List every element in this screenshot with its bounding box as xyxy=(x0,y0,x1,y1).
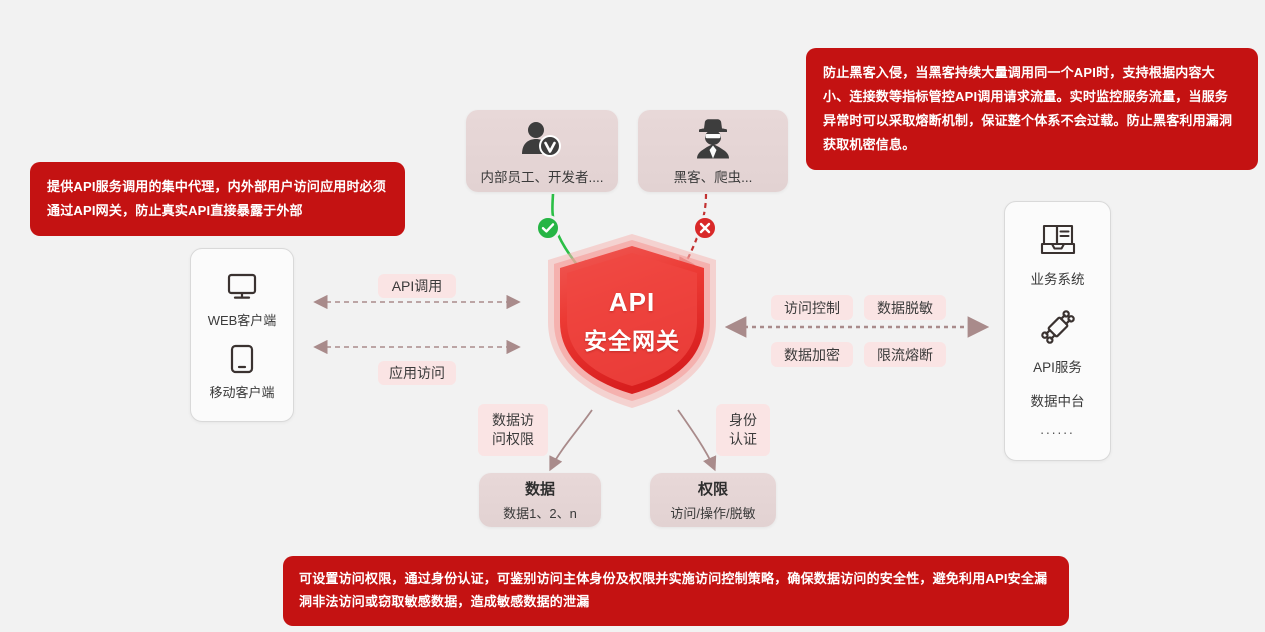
client-mobile[interactable]: 移动客户端 xyxy=(209,342,274,401)
gateway-to-data-arrow xyxy=(551,410,592,468)
actor-hacker[interactable]: 黑客、爬虫... xyxy=(638,110,788,192)
chip-api-call[interactable]: API调用 xyxy=(378,274,456,298)
shield-icon xyxy=(528,226,736,416)
api-security-gateway[interactable]: API 安全网关 xyxy=(528,226,736,416)
client-web[interactable]: WEB客户端 xyxy=(208,270,277,329)
chip-app-access[interactable]: 应用访问 xyxy=(378,361,456,385)
chip-data-encryption[interactable]: 数据加密 xyxy=(771,342,853,367)
archive-document-icon xyxy=(1040,218,1076,260)
backend-item-label-2: 数据中台 xyxy=(1031,390,1085,410)
box-data-title: 数据 xyxy=(525,478,555,499)
box-permission-subtitle: 访问/操作/脱敏 xyxy=(670,503,755,522)
chip-data-desensitization[interactable]: 数据脱敏 xyxy=(864,295,946,320)
hacker-spy-icon xyxy=(691,116,735,160)
gateway-to-permission-arrow xyxy=(678,410,714,468)
callout-right-protection: 防止黑客入侵，当黑客持续大量调用同一个API时，支持根据内容大小、连接数等指标管… xyxy=(806,48,1258,170)
verified-user-icon xyxy=(520,116,564,160)
callout-left-proxy: 提供API服务调用的集中代理，内外部用户访问应用时必须通过API网关，防止真实A… xyxy=(30,162,405,236)
backend-item-label-0: 业务系统 xyxy=(1031,268,1085,288)
box-data[interactable]: 数据 数据1、2、n xyxy=(479,473,601,527)
backend-panel: 业务系统 API服务 数据中台 ...... xyxy=(1004,201,1111,461)
mobile-device-icon xyxy=(230,342,254,376)
client-web-label: WEB客户端 xyxy=(208,310,277,329)
backend-item-label-1: API服务 xyxy=(1033,356,1082,376)
chip-data-access-permission[interactable]: 数据访 问权限 xyxy=(478,404,548,456)
backend-more-ellipsis: ...... xyxy=(1040,422,1075,437)
chip-data-access-permission-line1: 数据访 xyxy=(492,411,534,430)
box-permission-title: 权限 xyxy=(698,478,728,499)
chip-identity-authentication[interactable]: 身份 认证 xyxy=(716,404,770,456)
chip-identity-authentication-line1: 身份 xyxy=(729,411,757,430)
actor-internal-user[interactable]: 内部员工、开发者.... xyxy=(466,110,618,192)
chip-data-access-permission-line2: 问权限 xyxy=(492,430,534,449)
plug-connector-icon xyxy=(1039,306,1077,348)
monitor-icon xyxy=(227,270,257,304)
box-data-subtitle: 数据1、2、n xyxy=(503,503,577,522)
chip-identity-authentication-line2: 认证 xyxy=(729,430,757,449)
actor-hacker-label: 黑客、爬虫... xyxy=(674,166,753,186)
chip-access-control[interactable]: 访问控制 xyxy=(771,295,853,320)
box-permission[interactable]: 权限 访问/操作/脱敏 xyxy=(650,473,776,527)
client-panel: WEB客户端 移动客户端 xyxy=(190,248,294,422)
actor-internal-user-label: 内部员工、开发者.... xyxy=(480,166,603,186)
callout-bottom-access-control: 可设置访问权限，通过身份认证，可鉴别访问主体身份及权限并实施访问控制策略，确保数… xyxy=(283,556,1069,626)
diagram-canvas: 提供API服务调用的集中代理，内外部用户访问应用时必须通过API网关，防止真实A… xyxy=(0,0,1265,632)
client-mobile-label: 移动客户端 xyxy=(209,382,274,401)
chip-rate-limit-circuit-break[interactable]: 限流熔断 xyxy=(864,342,946,367)
